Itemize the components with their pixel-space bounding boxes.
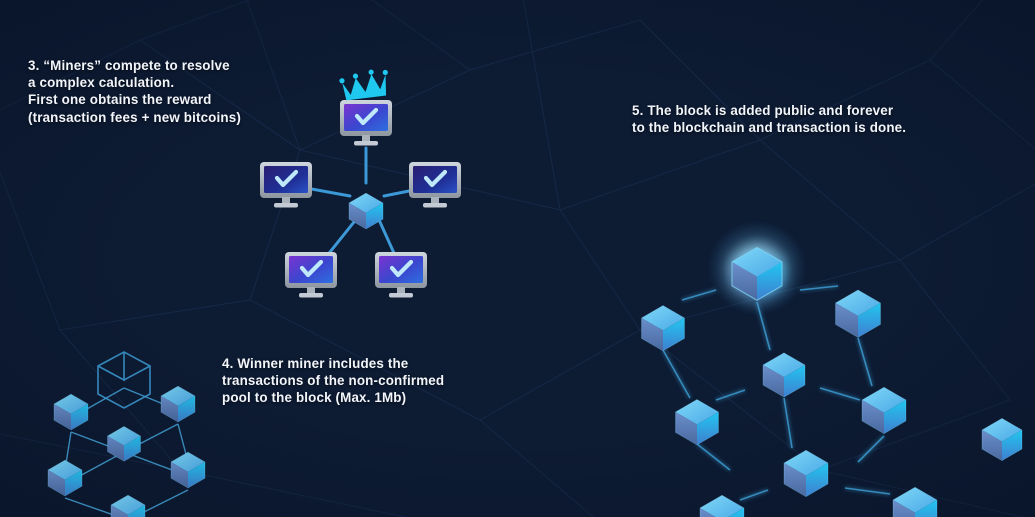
infographic-canvas: 3. “Miners” compete to resolve a complex… (0, 0, 1035, 517)
cube-icon (161, 386, 195, 422)
cube-icon (893, 487, 937, 517)
cube-icon (763, 353, 805, 397)
cube-icon (48, 460, 82, 496)
caption-step-4: 4. Winner miner includes the transaction… (222, 355, 444, 407)
cube-icon (700, 495, 744, 517)
cube-icon (784, 450, 828, 496)
cube-icon (676, 400, 719, 445)
blockchain-lattice-right (642, 220, 1023, 517)
cube-icon (862, 387, 906, 433)
monitor-icon (260, 162, 312, 208)
crown-icon (338, 68, 390, 101)
miner-network-hub (260, 68, 461, 298)
cube-icon (111, 495, 145, 517)
caption-step-3: 3. “Miners” compete to resolve a complex… (28, 57, 241, 126)
monitor-icon (285, 252, 337, 298)
cube-icon (982, 418, 1022, 460)
blockchain-lattice-left (48, 352, 213, 517)
wireframe-cube-icon (98, 352, 150, 408)
cube-icon (836, 290, 881, 337)
cube-icon (707, 220, 807, 315)
monitor-icon (375, 252, 427, 298)
cube-icon (171, 452, 205, 488)
cube-icon (642, 306, 685, 351)
cube-icon (54, 394, 88, 430)
crowned-miner-icon (338, 68, 392, 146)
caption-step-5: 5. The block is added public and forever… (632, 102, 906, 136)
monitor-icon (409, 162, 461, 208)
